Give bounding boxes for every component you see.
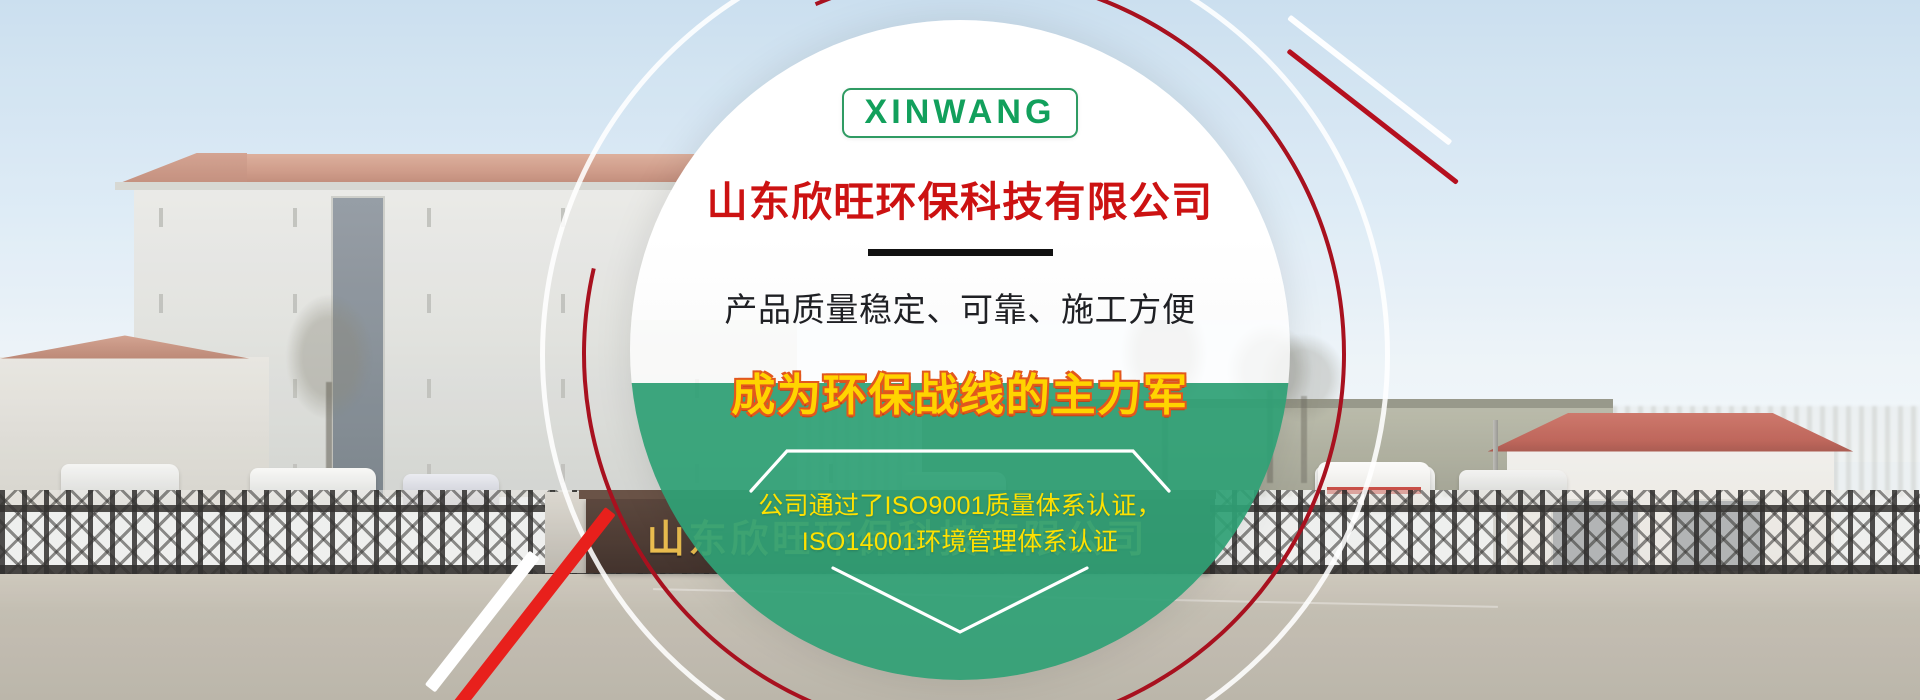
certification-line-1: 公司通过了ISO9001质量体系认证，: [758, 489, 1161, 525]
chevron-down-bracket-icon: [745, 566, 1175, 638]
main-headline: 成为环保战线的主力军: [731, 359, 1189, 423]
logo-text: XINWANG: [864, 93, 1055, 131]
product-slogan: 产品质量稳定、可靠、施工方便: [724, 283, 1195, 331]
certification-text: 公司通过了ISO9001质量体系认证， ISO14001环境管理体系认证: [758, 489, 1161, 560]
title-divider: [868, 249, 1053, 256]
xinwang-logo-badge: XINWANG: [842, 88, 1077, 138]
banner-content: XINWANG 山东欣旺环保科技有限公司 产品质量稳定、可靠、施工方便 成为环保…: [630, 20, 1290, 680]
certification-line-2: ISO14001环境管理体系认证: [758, 525, 1161, 561]
chevron-up-bracket-icon: [745, 447, 1175, 493]
promotional-banner: 山东欣旺环保科技有限公司 XINWANG 山东欣旺环保科技有限公司 产品质量稳定…: [0, 0, 1920, 700]
company-name-title: 山东欣旺环保科技有限公司: [707, 168, 1214, 228]
